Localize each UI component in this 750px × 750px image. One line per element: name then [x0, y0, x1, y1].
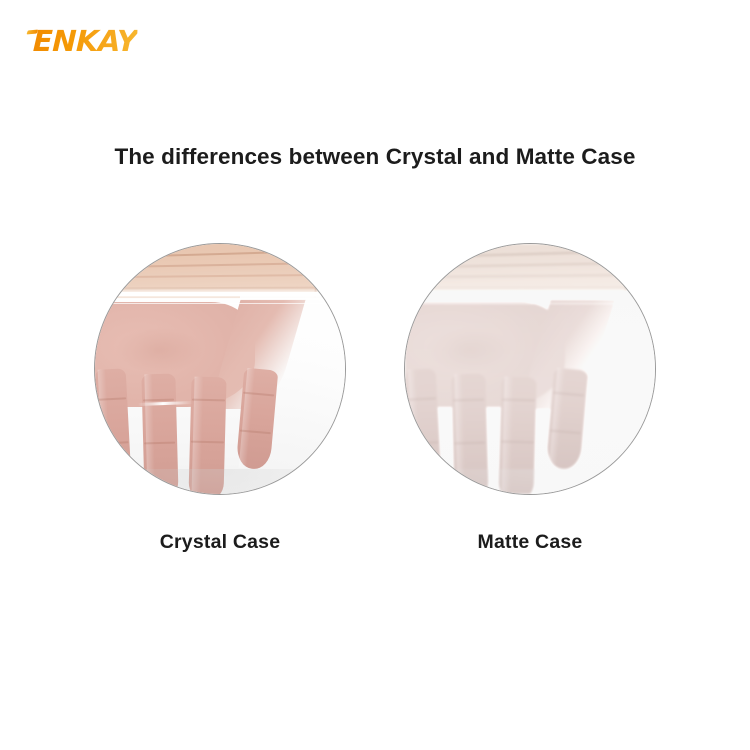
knuckle-line: [453, 399, 484, 402]
brand-logo: ENKAY: [32, 27, 137, 56]
palm-shading: [115, 327, 203, 373]
caption-matte-case: Matte Case: [404, 531, 656, 554]
knuckle-line: [144, 441, 175, 444]
knuckle-line: [501, 440, 533, 443]
product-infographic: ENKAY The differences between Crystal an…: [0, 0, 750, 750]
crystal-scene: [95, 244, 345, 494]
case-edge-highlight: [95, 298, 345, 300]
wrist-crease-line: [95, 286, 345, 289]
wrist-vertical-crease: [642, 244, 652, 298]
knuckle-line: [409, 441, 438, 445]
knuckle-line: [99, 441, 128, 445]
knuckle-line: [192, 398, 224, 401]
wrist-vertical-crease: [314, 244, 322, 298]
comparison-row: Crystal Case: [0, 243, 750, 503]
case-edge-highlight: [95, 303, 345, 304]
palm-shading: [425, 327, 513, 373]
wrist-crease-line: [405, 248, 655, 258]
caption-crystal-case: Crystal Case: [94, 531, 346, 554]
knuckle-line: [191, 440, 223, 443]
bottom-shadow: [405, 469, 655, 494]
wrist-crease-line: [405, 274, 655, 279]
case-edge-highlight: [405, 303, 655, 304]
crystal-case-photo: [94, 243, 346, 495]
bottom-shadow: [95, 469, 345, 494]
wrist-vertical-crease: [332, 244, 342, 298]
comparison-item-crystal: Crystal Case: [94, 243, 346, 495]
knuckle-line: [454, 441, 485, 444]
wrist-vertical-crease: [624, 244, 632, 298]
case-edge-highlight: [95, 292, 345, 296]
wrist-crease-line: [405, 261, 655, 269]
case-edge-highlight: [405, 292, 655, 296]
case-edge-highlight: [405, 298, 655, 300]
comparison-item-matte: Matte Case: [404, 243, 656, 495]
knuckle-line: [502, 398, 534, 401]
wrist-crease-line: [405, 286, 655, 289]
matte-scene: [405, 244, 655, 494]
wrist-crease-line: [95, 274, 345, 279]
matte-case-photo: [404, 243, 656, 495]
wrist-crease-line: [95, 261, 345, 269]
page-title: The differences between Crystal and Matt…: [0, 144, 750, 170]
wrist-crease-line: [95, 248, 345, 258]
